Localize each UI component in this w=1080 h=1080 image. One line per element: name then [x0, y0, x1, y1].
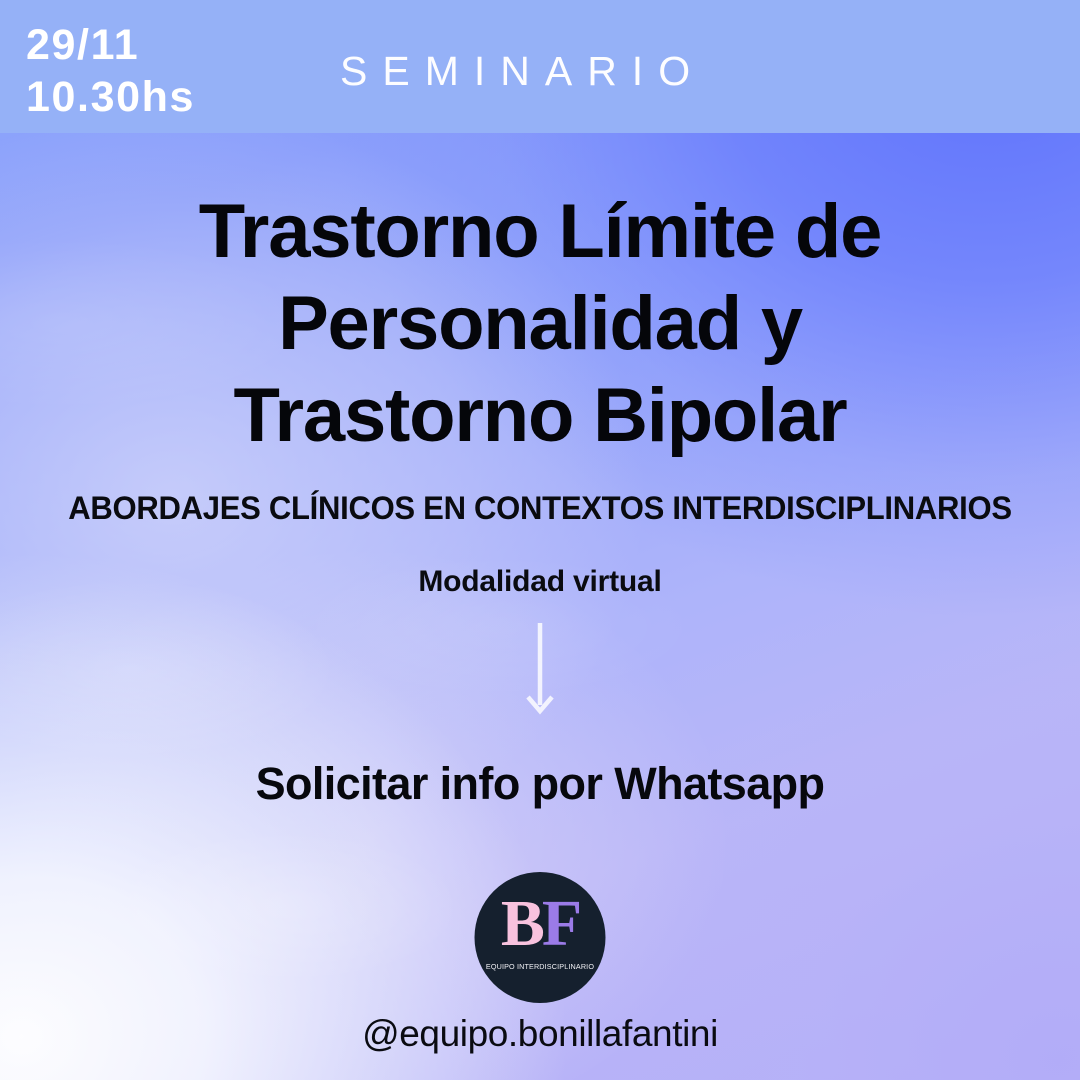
logo-letter-b: B: [501, 887, 542, 960]
title-line-1: Trastorno Límite de: [40, 186, 1040, 278]
page-title: Trastorno Límite de Personalidad y Trast…: [0, 133, 1080, 462]
seminar-poster: 29/11 10.30hs SEMINARIO Trastorno Límite…: [0, 0, 1080, 1080]
title-line-2: Personalidad y: [40, 278, 1040, 370]
event-date: 29/11: [26, 19, 195, 71]
title-line-3: Trastorno Bipolar: [40, 370, 1040, 462]
brand-logo: BF EQUIPO INTERDISCIPLINARIO: [475, 872, 606, 1003]
event-type-label: SEMINARIO: [340, 48, 705, 95]
page-subtitle: ABORDAJES CLÍNICOS EN CONTEXTOS INTERDIS…: [16, 462, 1064, 528]
logo-letter-f: F: [542, 887, 579, 960]
social-handle[interactable]: @equipo.bonillafantini: [0, 1013, 1080, 1055]
event-time: 10.30hs: [26, 71, 195, 123]
whatsapp-cta-text[interactable]: Solicitar info por Whatsapp: [0, 758, 1080, 810]
header-band: 29/11 10.30hs SEMINARIO: [0, 0, 1080, 133]
modality-label: Modalidad virtual: [0, 528, 1080, 599]
logo-monogram: BF: [475, 891, 606, 957]
poster-body: Trastorno Límite de Personalidad y Trast…: [0, 133, 1080, 1080]
logo-caption: EQUIPO INTERDISCIPLINARIO: [478, 962, 602, 971]
arrow-down-icon: [520, 621, 560, 717]
event-datetime: 29/11 10.30hs: [26, 19, 195, 123]
